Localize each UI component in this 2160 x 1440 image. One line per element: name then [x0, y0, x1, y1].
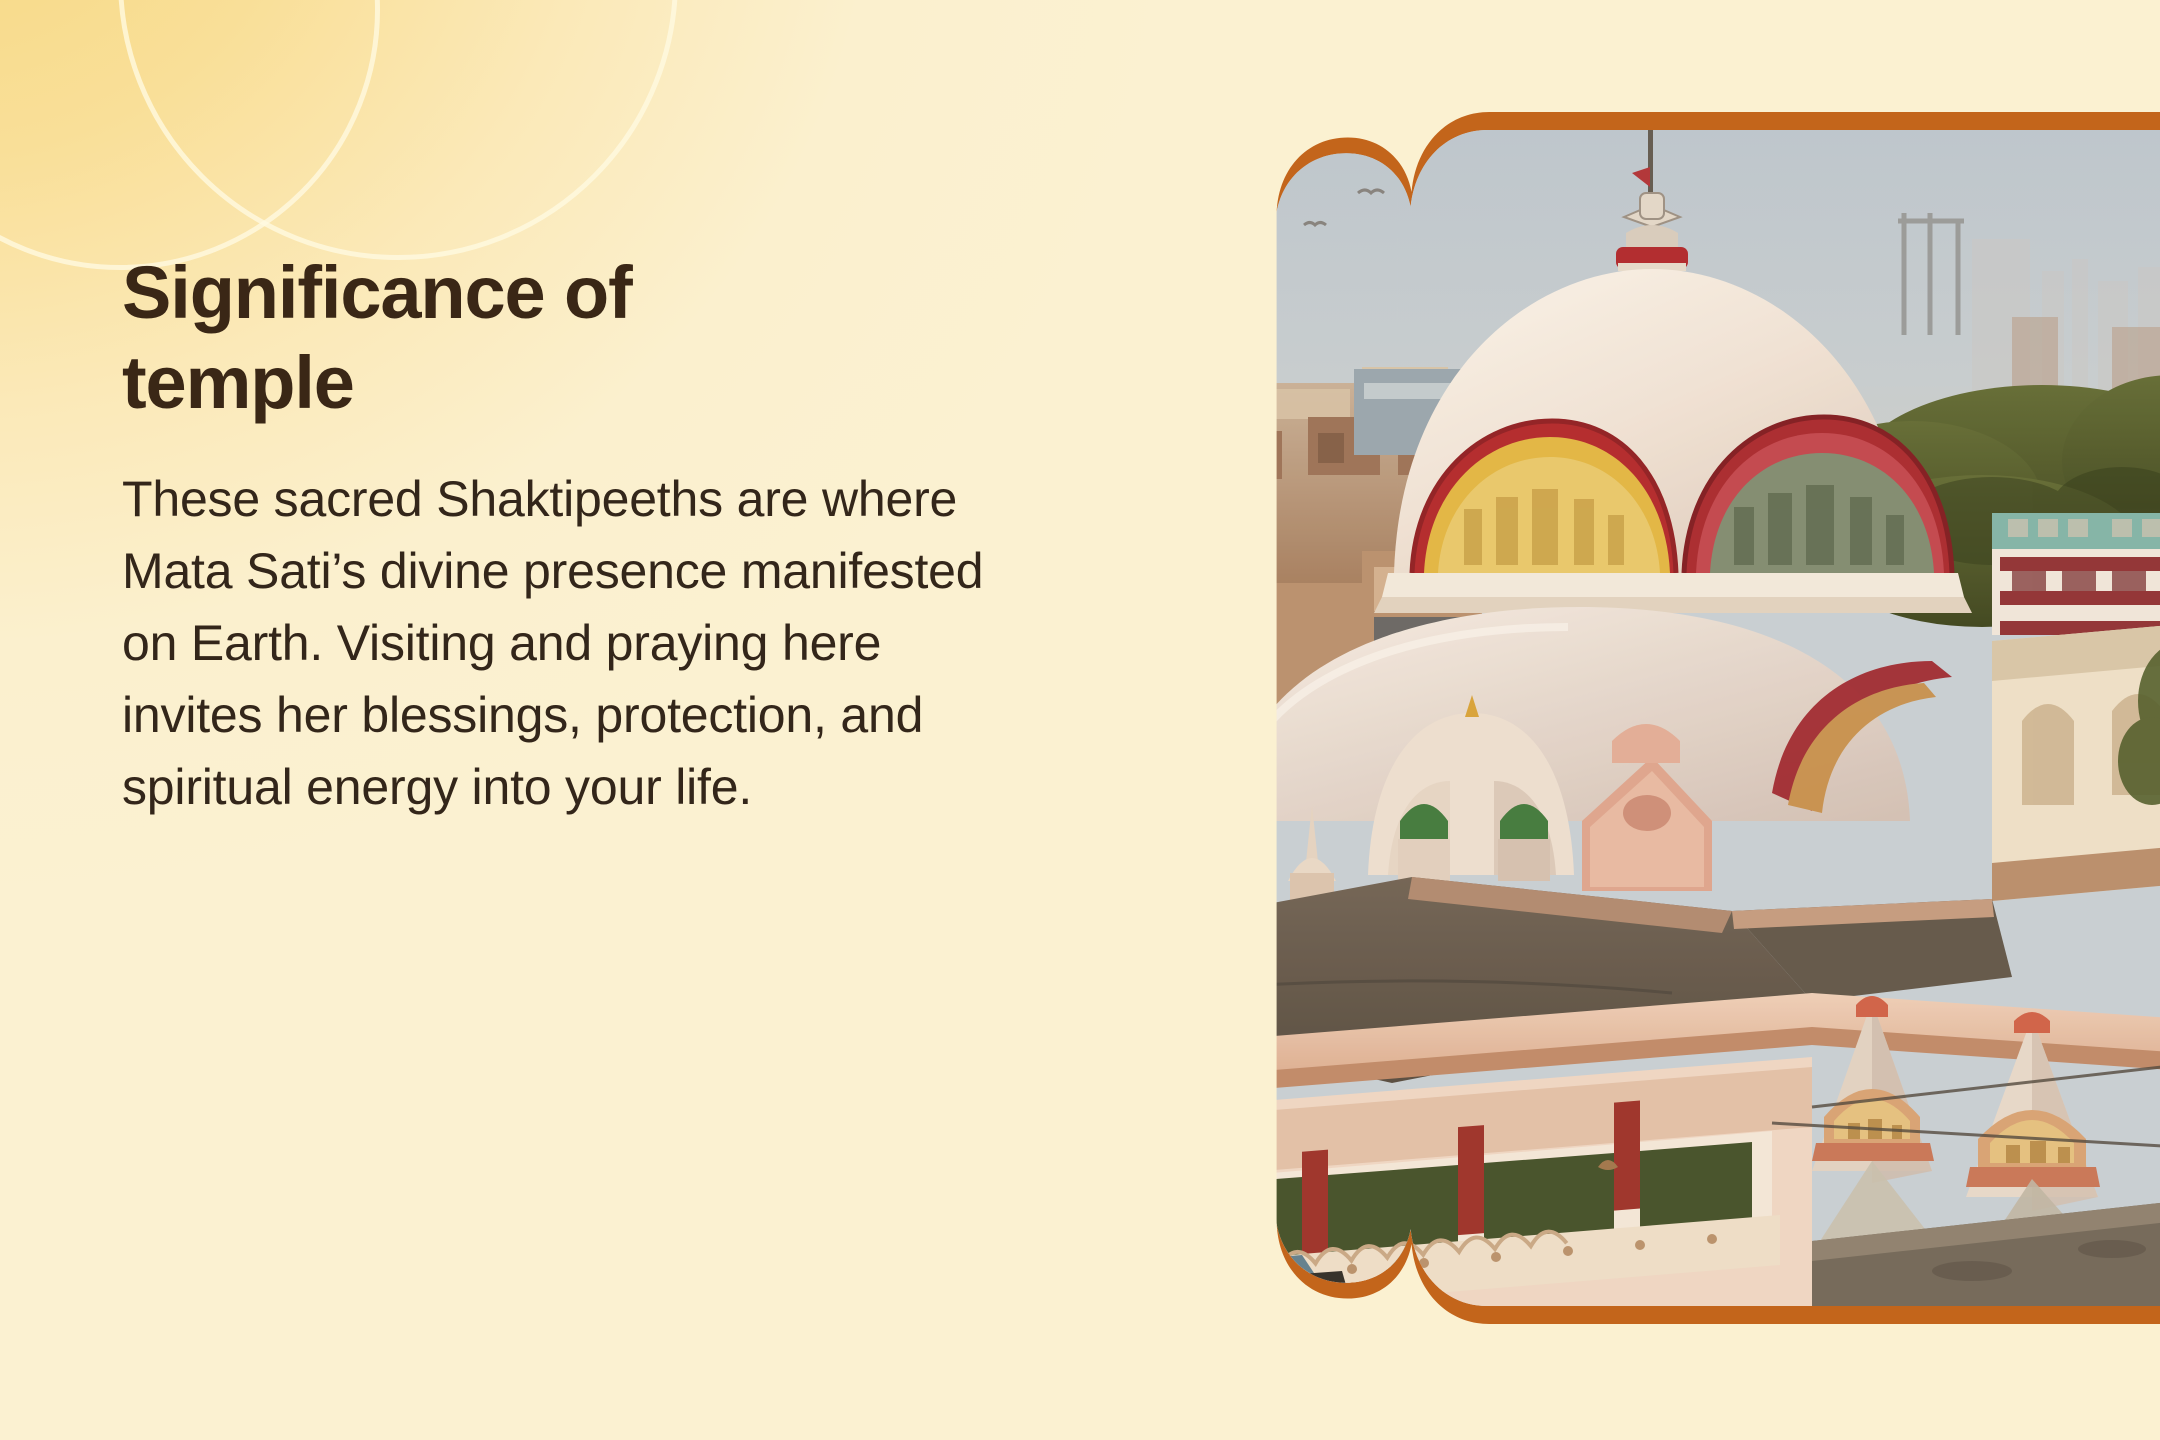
body-paragraph: These sacred Shaktipeeths are where Mata…: [122, 463, 1022, 823]
page-title: Significance of temple: [122, 248, 822, 429]
slide-canvas: Significance of temple These sacred Shak…: [0, 0, 2160, 1440]
text-column: Significance of temple These sacred Shak…: [122, 248, 1022, 823]
